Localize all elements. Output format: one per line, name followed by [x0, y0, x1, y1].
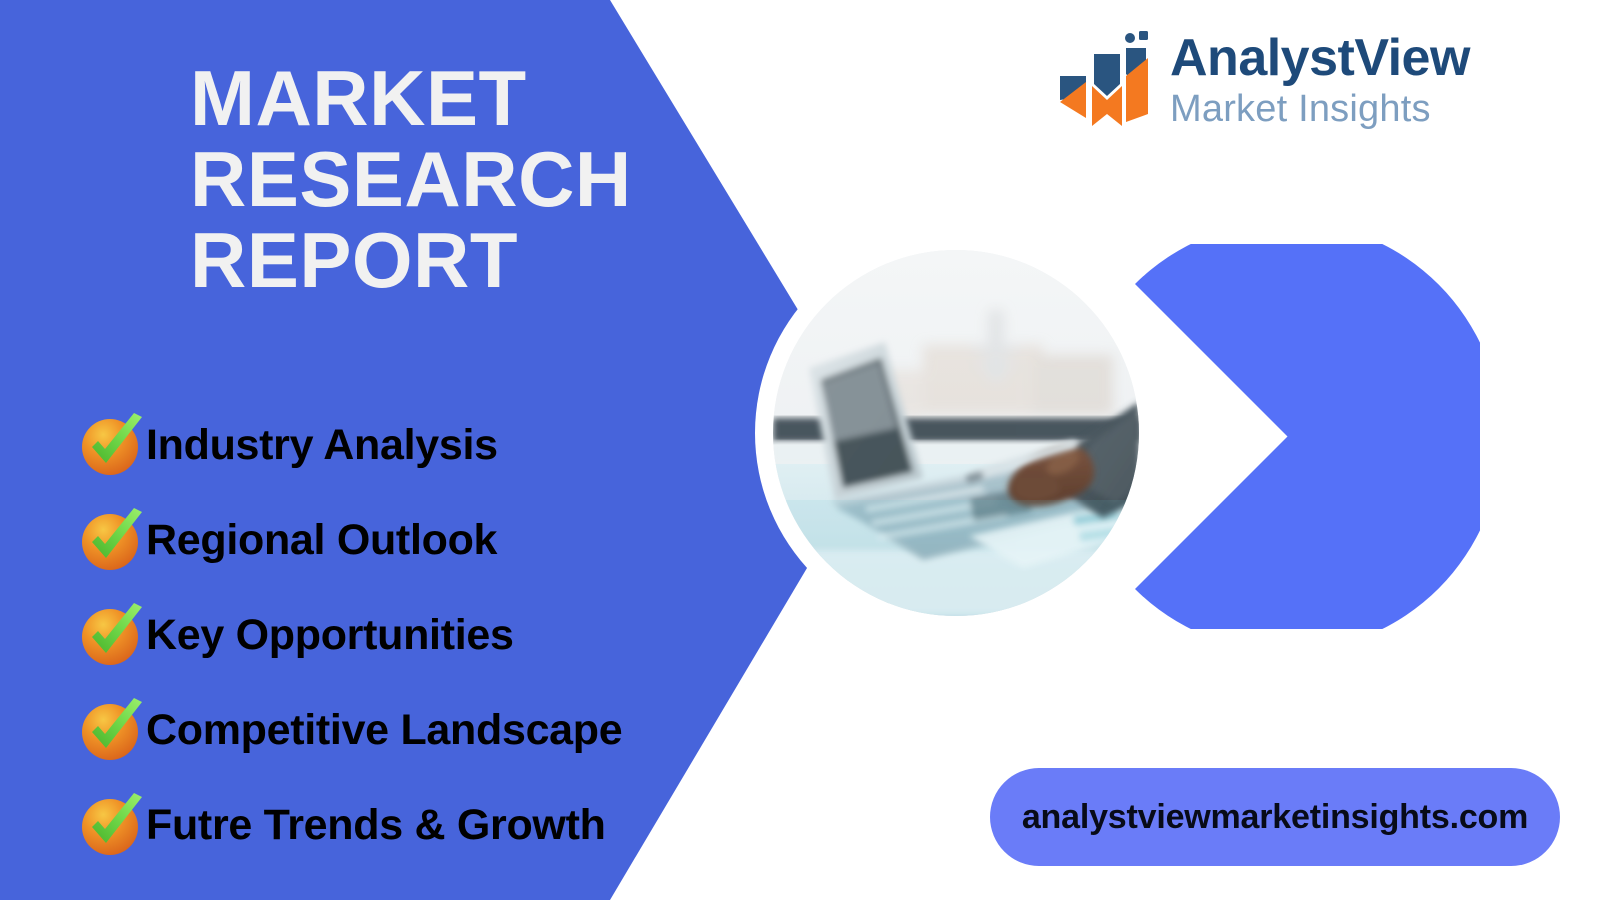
list-item: Futre Trends & Growth	[78, 778, 718, 873]
list-item: Competitive Landscape	[78, 683, 718, 778]
list-item-label: Industry Analysis	[146, 421, 498, 470]
feature-list: Industry Analysis Regional Outlook Key O…	[78, 398, 718, 873]
title-line-3: REPORT	[190, 220, 730, 301]
market-research-report-banner: MARKET RESEARCH REPORT	[0, 0, 1600, 900]
bar-chart-logo-icon	[1046, 26, 1154, 134]
logo-wordmark: AnalystView Market Insights	[1170, 32, 1470, 128]
list-item: Industry Analysis	[78, 398, 718, 493]
website-url-text: analystviewmarketinsights.com	[1022, 798, 1528, 837]
website-url-pill[interactable]: analystviewmarketinsights.com	[990, 768, 1560, 866]
list-item: Key Opportunities	[78, 588, 718, 683]
title-line-2: RESEARCH	[190, 139, 730, 220]
logo-brand-name: AnalystView	[1170, 29, 1470, 87]
list-item: Regional Outlook	[78, 493, 718, 588]
list-item-label: Key Opportunities	[146, 611, 514, 660]
logo-tagline: Market Insights	[1170, 90, 1470, 128]
check-mark-icon	[78, 795, 140, 857]
page-title: MARKET RESEARCH REPORT	[190, 58, 730, 301]
check-mark-icon	[78, 605, 140, 667]
analystview-logo[interactable]: AnalystView Market Insights	[1046, 26, 1470, 134]
check-mark-icon	[78, 510, 140, 572]
title-line-1: MARKET	[190, 58, 730, 139]
list-item-label: Regional Outlook	[146, 516, 497, 565]
check-mark-icon	[78, 700, 140, 762]
list-item-label: Competitive Landscape	[146, 706, 622, 755]
list-item-label: Futre Trends & Growth	[146, 801, 606, 850]
check-mark-icon	[78, 415, 140, 477]
hand-with-stylus-on-laptop-photo	[773, 250, 1139, 616]
